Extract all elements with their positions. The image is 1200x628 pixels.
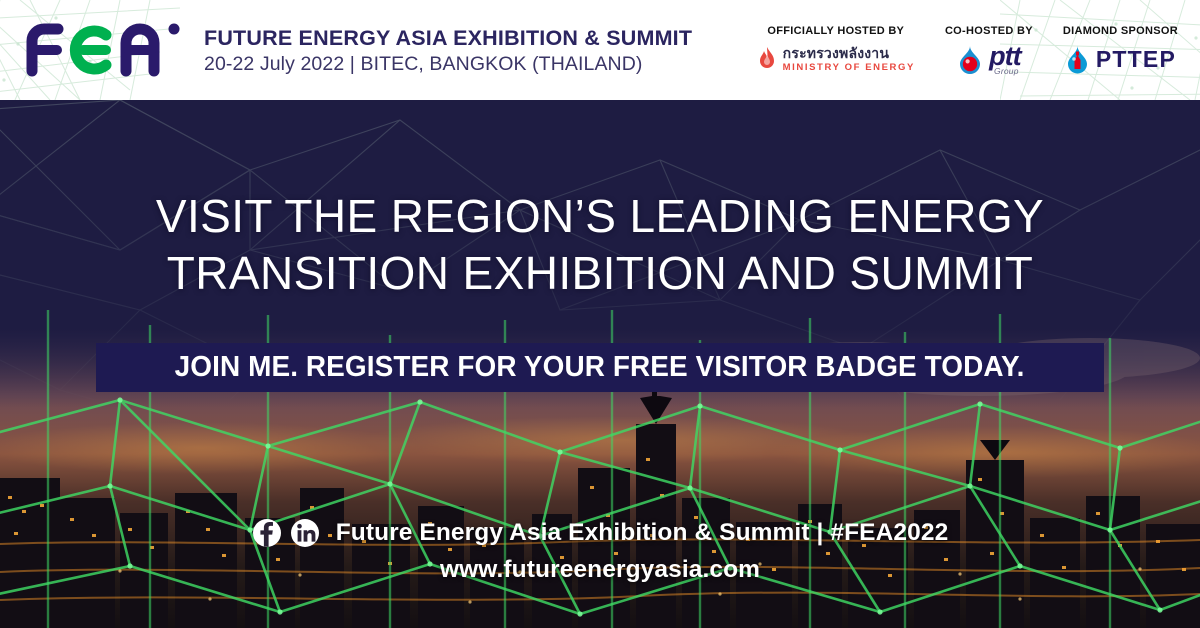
facebook-icon[interactable] [252, 518, 282, 548]
hero-headline: VISIT THE REGION’S LEADING ENERGY TRANSI… [0, 188, 1200, 302]
event-title: FUTURE ENERGY ASIA EXHIBITION & SUMMIT [204, 26, 692, 51]
ptt-group-logo[interactable]: ptt Group [957, 44, 1020, 76]
pttep-droplet-icon [1065, 45, 1090, 75]
flame-icon [757, 46, 777, 74]
headline-line-2: TRANSITION EXHIBITION AND SUMMIT [0, 245, 1200, 302]
ministry-of-energy-logo[interactable]: กระทรวงพลังงาน MINISTRY OF ENERGY [757, 44, 915, 76]
event-date-venue: 20-22 July 2022 | BITEC, BANGKOK (THAILA… [204, 52, 692, 76]
sponsor-label: CO-HOSTED BY [945, 25, 1033, 37]
footer-primary-row: Future Energy Asia Exhibition & Summit |… [0, 518, 1200, 548]
sponsor-co-hosted-by: CO-HOSTED BY ptt Group [945, 25, 1033, 76]
sponsor-label: OFFICIALLY HOSTED BY [767, 25, 904, 37]
headline-line-1: VISIT THE REGION’S LEADING ENERGY [0, 188, 1200, 245]
footer-section: Future Energy Asia Exhibition & Summit |… [0, 518, 1200, 584]
ministry-name-english: MINISTRY OF ENERGY [783, 63, 915, 73]
sponsor-diamond: DIAMOND SPONSOR PTTEP [1063, 25, 1178, 76]
ministry-name-thai: กระทรวงพลังงาน [783, 46, 915, 60]
event-title-block: FUTURE ENERGY ASIA EXHIBITION & SUMMIT 2… [204, 24, 692, 77]
sponsor-officially-hosted-by: OFFICIALLY HOSTED BY กระทรวงพลังงาน MINI… [757, 25, 915, 76]
ptt-wordmark-sub: Group [994, 67, 1019, 76]
linkedin-icon[interactable] [290, 518, 320, 548]
promo-banner: FUTURE ENERGY ASIA EXHIBITION & SUMMIT 2… [0, 0, 1200, 628]
footer-event-name: Future Energy Asia Exhibition & Summit |… [336, 519, 949, 547]
header-bar: FUTURE ENERGY ASIA EXHIBITION & SUMMIT 2… [0, 0, 1200, 100]
sponsor-strip: OFFICIALLY HOSTED BY กระทรวงพลังงาน MINI… [757, 25, 1186, 76]
pttep-logo[interactable]: PTTEP [1065, 44, 1176, 76]
fea-logo[interactable] [22, 19, 190, 81]
footer-website[interactable]: www.futureenergyasia.com [0, 556, 1200, 584]
sponsor-label: DIAMOND SPONSOR [1063, 25, 1178, 37]
social-links [252, 518, 320, 548]
ptt-droplet-icon [957, 45, 983, 75]
pttep-wordmark: PTTEP [1096, 48, 1176, 71]
cta-text: JOIN ME. REGISTER FOR YOUR FREE VISITOR … [175, 351, 1025, 384]
cta-banner[interactable]: JOIN ME. REGISTER FOR YOUR FREE VISITOR … [96, 343, 1104, 392]
